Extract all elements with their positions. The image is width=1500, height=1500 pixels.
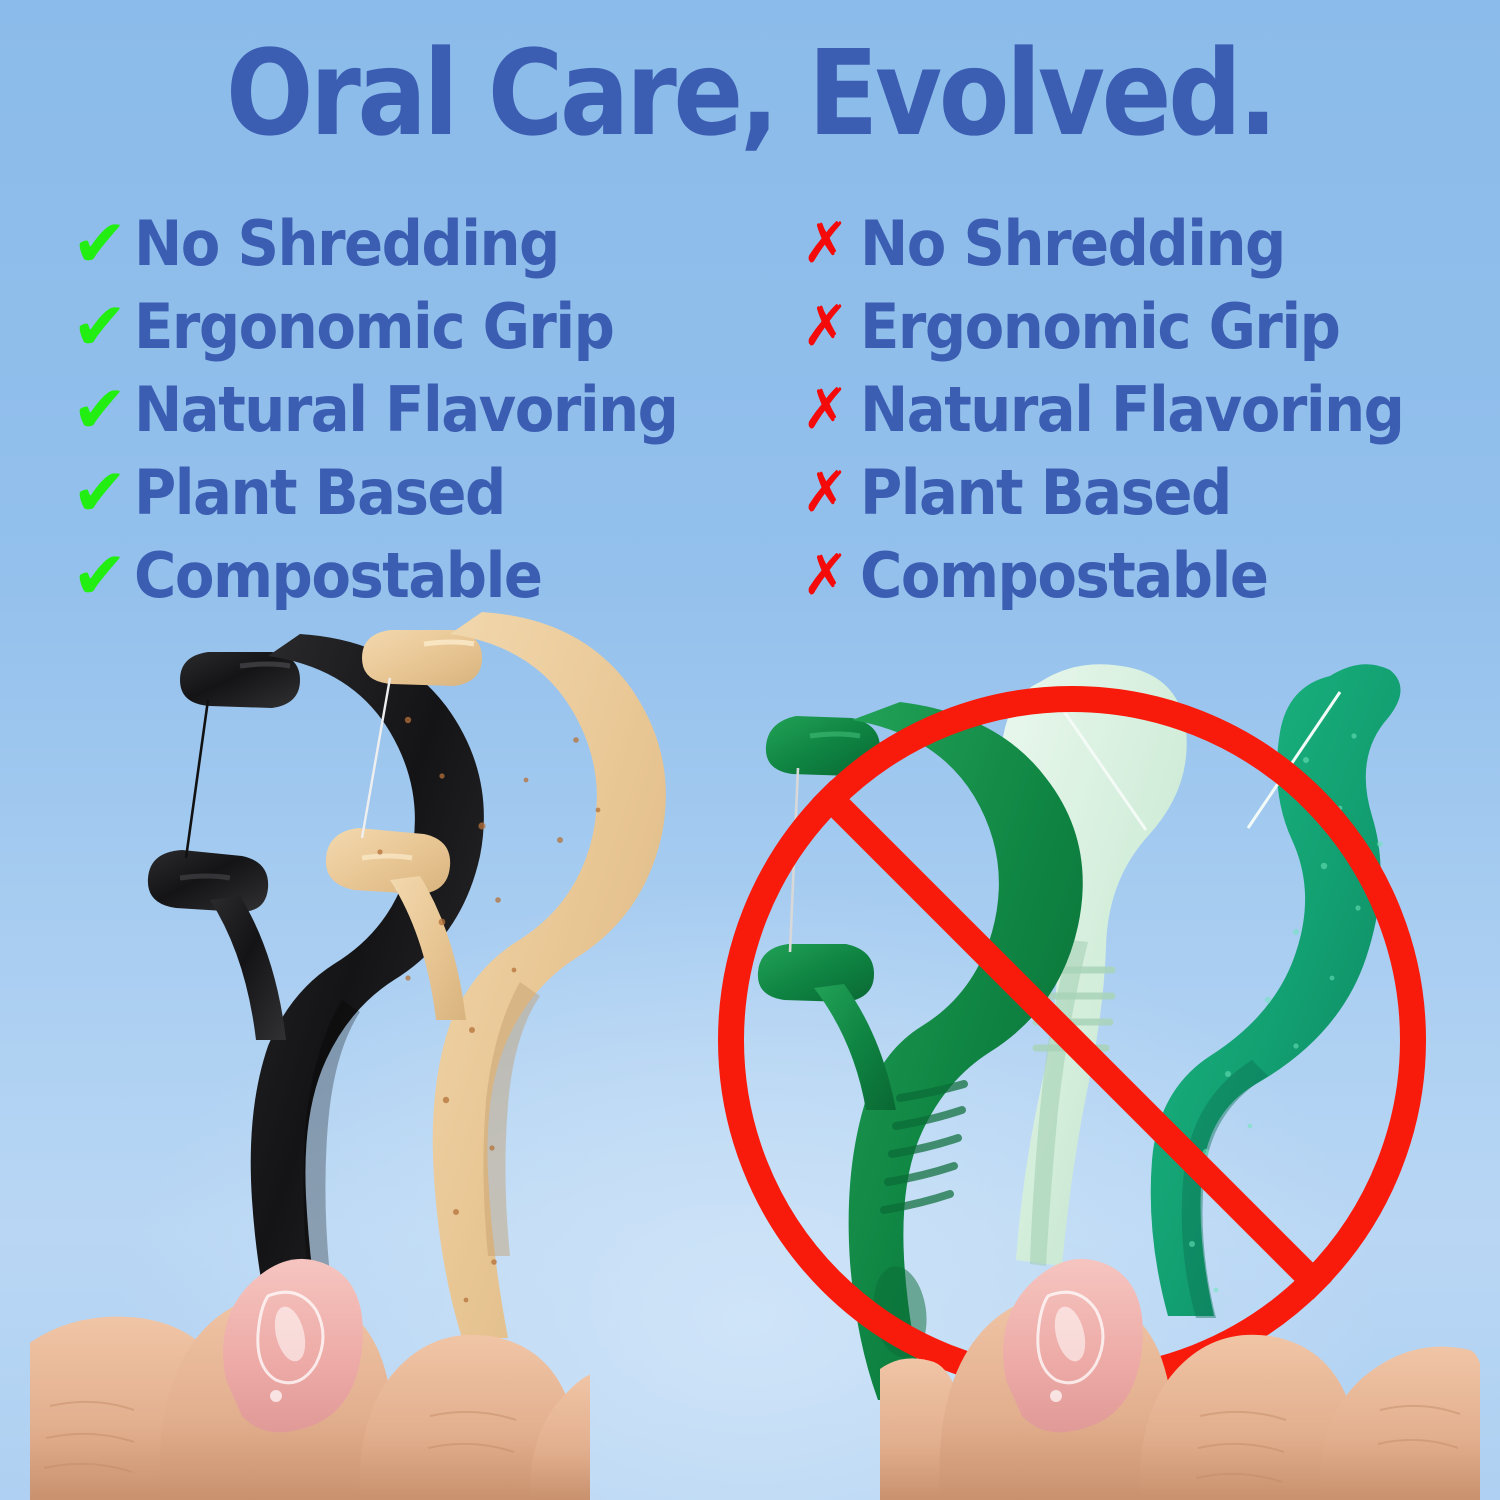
feature-label: Plant Based — [860, 462, 1231, 524]
feature-label: Plant Based — [134, 462, 505, 524]
check-icon: ✔ — [72, 294, 134, 360]
cross-icon: ✗ — [798, 216, 860, 272]
hand-right — [880, 1200, 1480, 1500]
feature-label: Compostable — [134, 545, 541, 607]
check-icon: ✔ — [72, 460, 134, 526]
list-item: ✗ Plant Based — [798, 451, 1498, 534]
list-item: ✗ Ergonomic Grip — [798, 285, 1498, 368]
feature-label: No Shredding — [860, 213, 1285, 275]
cross-icon: ✗ — [798, 548, 860, 604]
feature-list-con: ✗ No Shredding ✗ Ergonomic Grip ✗ Natura… — [798, 202, 1498, 617]
feature-label: Ergonomic Grip — [860, 296, 1339, 358]
cross-icon: ✗ — [798, 465, 860, 521]
feature-label: Natural Flavoring — [134, 379, 677, 441]
check-icon: ✔ — [72, 543, 134, 609]
feature-label: No Shredding — [134, 213, 559, 275]
cross-icon: ✗ — [798, 382, 860, 438]
feature-list-pro: ✔ No Shredding ✔ Ergonomic Grip ✔ Natura… — [72, 202, 772, 617]
list-item: ✗ Natural Flavoring — [798, 368, 1498, 451]
hand-right-svg — [880, 1200, 1480, 1500]
list-item: ✗ No Shredding — [798, 202, 1498, 285]
list-item: ✔ Natural Flavoring — [72, 368, 772, 451]
hand-left — [30, 1200, 590, 1500]
list-item: ✗ Compostable — [798, 534, 1498, 617]
list-item: ✔ No Shredding — [72, 202, 772, 285]
cross-icon: ✗ — [798, 299, 860, 355]
hand-left-svg — [30, 1200, 590, 1500]
feature-label: Natural Flavoring — [860, 379, 1403, 441]
list-item: ✔ Plant Based — [72, 451, 772, 534]
feature-label: Ergonomic Grip — [134, 296, 613, 358]
feature-label: Compostable — [860, 545, 1267, 607]
check-icon: ✔ — [72, 211, 134, 277]
list-item: ✔ Ergonomic Grip — [72, 285, 772, 368]
check-icon: ✔ — [72, 377, 134, 443]
page-title: Oral Care, Evolved. — [23, 34, 1478, 152]
